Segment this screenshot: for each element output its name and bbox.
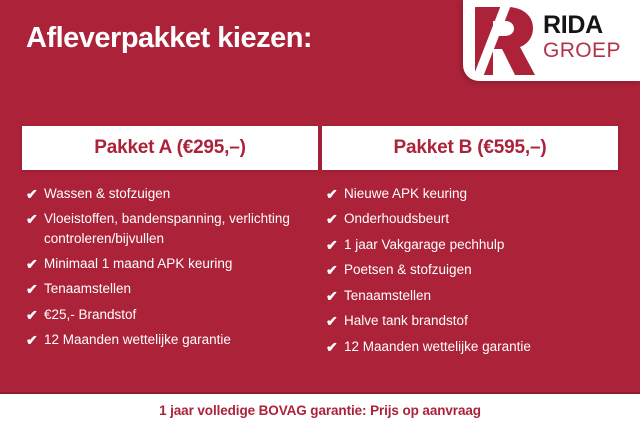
check-icon: ✔ xyxy=(326,209,344,229)
feature-item: ✔Halve tank brandstof xyxy=(326,311,618,331)
feature-item: ✔Nieuwe APK keuring xyxy=(326,184,618,204)
feature-label: Wassen & stofzuigen xyxy=(44,184,318,204)
check-icon: ✔ xyxy=(326,184,344,204)
check-icon: ✔ xyxy=(326,337,344,357)
feature-item: ✔Wassen & stofzuigen xyxy=(26,184,318,204)
package-column-a: Pakket A (€295,–) ✔Wassen & stofzuigen✔V… xyxy=(22,126,318,356)
package-column-b: Pakket B (€595,–) ✔Nieuwe APK keuring✔On… xyxy=(322,126,618,362)
footer-bar: 1 jaar volledige BOVAG garantie: Prijs o… xyxy=(0,392,640,426)
check-icon: ✔ xyxy=(26,330,44,350)
feature-item: ✔Tenaamstellen xyxy=(26,279,318,299)
check-icon: ✔ xyxy=(326,286,344,306)
check-icon: ✔ xyxy=(326,311,344,331)
check-icon: ✔ xyxy=(26,279,44,299)
check-icon: ✔ xyxy=(326,260,344,280)
afleverpakket-promo-card: Afleverpakket kiezen: RIDA GROEP Pakket … xyxy=(0,0,640,426)
check-icon: ✔ xyxy=(26,184,44,204)
logo-wordmark: RIDA GROEP xyxy=(543,13,621,61)
rida-groep-logo: RIDA GROEP xyxy=(463,0,640,81)
check-icon: ✔ xyxy=(326,235,344,255)
footer-guarantee-text: 1 jaar volledige BOVAG garantie: Prijs o… xyxy=(159,403,481,418)
feature-item: ✔12 Maanden wettelijke garantie xyxy=(26,330,318,350)
logo-subtitle: GROEP xyxy=(543,40,621,61)
feature-label: Tenaamstellen xyxy=(44,279,318,299)
rida-r-mark-icon xyxy=(471,5,537,77)
header-banner: Afleverpakket kiezen: RIDA GROEP xyxy=(0,0,640,96)
feature-label: Poetsen & stofzuigen xyxy=(344,260,618,280)
package-a-title: Pakket A (€295,–) xyxy=(94,137,246,159)
feature-label: Nieuwe APK keuring xyxy=(344,184,618,204)
package-a-feature-list: ✔Wassen & stofzuigen✔Vloeistoffen, bande… xyxy=(22,170,318,351)
feature-label: Halve tank brandstof xyxy=(344,311,618,331)
feature-label: 1 jaar Vakgarage pechhulp xyxy=(344,235,618,255)
feature-label: Onderhoudsbeurt xyxy=(344,209,618,229)
page-title: Afleverpakket kiezen: xyxy=(26,22,312,55)
feature-label: 12 Maanden wettelijke garantie xyxy=(44,330,318,350)
feature-label: Minimaal 1 maand APK keuring xyxy=(44,254,318,274)
feature-item: ✔Vloeistoffen, bandenspanning, verlichti… xyxy=(26,209,318,248)
feature-item: ✔Onderhoudsbeurt xyxy=(326,209,618,229)
package-b-feature-list: ✔Nieuwe APK keuring✔Onderhoudsbeurt✔1 ja… xyxy=(322,170,618,357)
feature-item: ✔Minimaal 1 maand APK keuring xyxy=(26,254,318,274)
feature-item: ✔12 Maanden wettelijke garantie xyxy=(326,337,618,357)
check-icon: ✔ xyxy=(26,254,44,274)
feature-item: ✔1 jaar Vakgarage pechhulp xyxy=(326,235,618,255)
feature-label: Tenaamstellen xyxy=(344,286,618,306)
package-b-title: Pakket B (€595,–) xyxy=(394,137,547,159)
package-columns: Pakket A (€295,–) ✔Wassen & stofzuigen✔V… xyxy=(0,126,640,376)
package-a-header[interactable]: Pakket A (€295,–) xyxy=(22,126,318,170)
feature-item: ✔Poetsen & stofzuigen xyxy=(326,260,618,280)
feature-label: €25,- Brandstof xyxy=(44,305,318,325)
package-b-header[interactable]: Pakket B (€595,–) xyxy=(322,126,618,170)
logo-name: RIDA xyxy=(543,13,621,38)
feature-label: 12 Maanden wettelijke garantie xyxy=(344,337,618,357)
check-icon: ✔ xyxy=(26,305,44,325)
feature-label: Vloeistoffen, bandenspanning, verlichtin… xyxy=(44,209,318,248)
feature-item: ✔€25,- Brandstof xyxy=(26,305,318,325)
check-icon: ✔ xyxy=(26,209,44,229)
feature-item: ✔Tenaamstellen xyxy=(326,286,618,306)
